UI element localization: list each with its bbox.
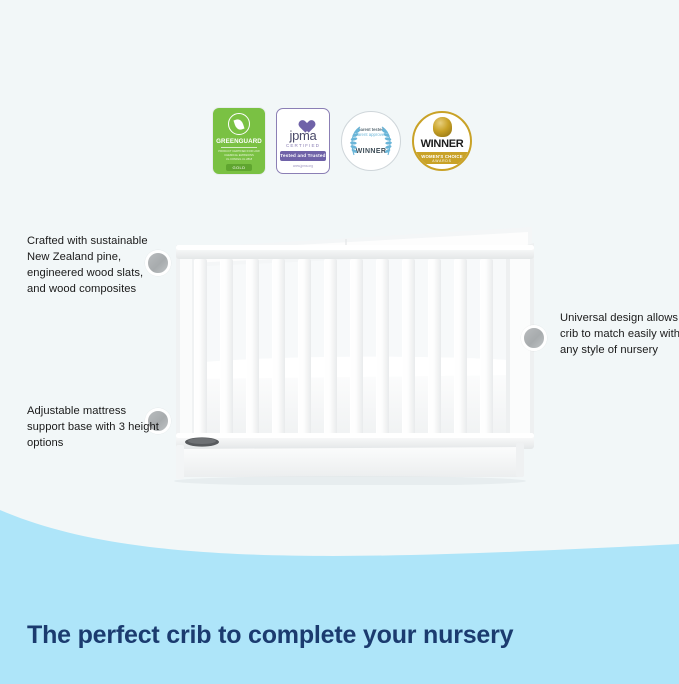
leaf-icon [228,113,250,135]
badge-greenguard-tier: GOLD [226,164,253,171]
badge-jpma-banner: Tested and Trusted [280,151,326,161]
badge-jpma-url: www.jpma.org [293,164,313,168]
badge-womens-choice: WINNER WOMEN'S CHOICE AWARDS [412,108,472,171]
badge-jpma: jpma CERTIFIED Tested and Trusted www.jp… [276,108,330,174]
crib-product-image [150,215,550,485]
badge-greenguard-name: GREENGUARD [216,138,262,145]
badge-greenguard: GREENGUARD PRODUCT CERTIFIED FOR LOW CHE… [213,108,265,174]
laurel-wreath-icon [349,126,362,156]
badge-ptpa: parent tested parent approved WINNER [341,108,401,171]
infographic-canvas: GREENGUARD PRODUCT CERTIFIED FOR LOW CHE… [0,0,679,684]
certification-badges: GREENGUARD PRODUCT CERTIFIED FOR LOW CHE… [213,108,483,178]
heart-icon [295,112,312,128]
callout-dot-universal-design[interactable] [521,325,547,351]
badge-jpma-subtitle: CERTIFIED [286,143,320,148]
trophy-icon [433,117,452,137]
badge-wca-subtitle-small: AWARDS [414,159,470,163]
wave-background [0,470,679,684]
divider [221,147,257,148]
laurel-wreath-icon [380,126,393,156]
badge-wca-name: WINNER [421,139,464,150]
callout-text-universal-design: Universal design allows crib to match ea… [560,311,679,359]
callout-text-mattress-support: Adjustable mattress support base with 3 … [27,404,159,452]
badge-greenguard-fineprint: PRODUCT CERTIFIED FOR LOW CHEMICAL EMISS… [217,150,261,162]
headline: The perfect crib to complete your nurser… [27,621,513,650]
badge-wca-subtitle: WOMEN'S CHOICE AWARDS [414,152,470,164]
callout-text-materials: Crafted with sustainable New Zealand pin… [27,234,157,298]
